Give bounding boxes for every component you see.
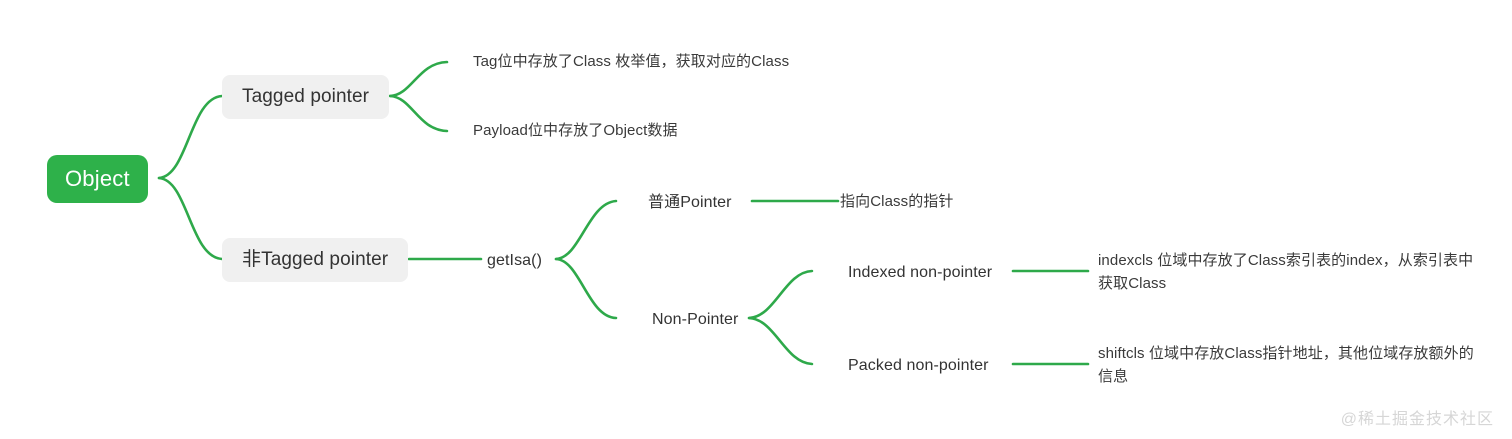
node-packed-non-pointer[interactable]: Packed non-pointer xyxy=(848,353,989,379)
node-non-pointer[interactable]: Non-Pointer xyxy=(652,307,738,333)
node-root-object[interactable]: Object xyxy=(47,155,148,203)
leaf-payload-bits-description: Payload位中存放了Object数据 xyxy=(473,121,678,141)
leaf-indexcls-description: indexcls 位域中存放了Class索引表的index，从索引表中获取Cla… xyxy=(1098,249,1486,296)
edge-getisa-to-non-pointer xyxy=(556,259,616,318)
watermark: @稀土掘金技术社区 xyxy=(1341,405,1494,429)
node-non-tagged-pointer[interactable]: 非Tagged pointer xyxy=(222,238,408,282)
leaf-class-pointer-description: 指向Class的指针 xyxy=(840,192,954,212)
leaf-tag-bits-description: Tag位中存放了Class 枚举值，获取对应的Class xyxy=(473,52,789,72)
edge-non-pointer-to-packed xyxy=(749,318,812,364)
node-getisa[interactable]: getIsa() xyxy=(487,248,542,274)
node-plain-pointer[interactable]: 普通Pointer xyxy=(648,190,732,216)
edge-non-pointer-to-indexed xyxy=(749,271,812,318)
edge-root-to-non-tagged-pointer xyxy=(159,178,222,259)
edge-root-to-tagged-pointer xyxy=(159,96,222,178)
edge-tagged-pointer-to-tag-bits xyxy=(390,62,447,96)
mindmap-canvas: Object Tagged pointer 非Tagged pointer Ta… xyxy=(0,0,1512,439)
node-tagged-pointer[interactable]: Tagged pointer xyxy=(222,75,389,119)
leaf-shiftcls-description: shiftcls 位域中存放Class指针地址，其他位域存放额外的信息 xyxy=(1098,342,1486,389)
edge-getisa-to-plain-pointer xyxy=(556,201,616,259)
edge-tagged-pointer-to-payload-bits xyxy=(390,96,447,131)
node-indexed-non-pointer[interactable]: Indexed non-pointer xyxy=(848,260,992,286)
